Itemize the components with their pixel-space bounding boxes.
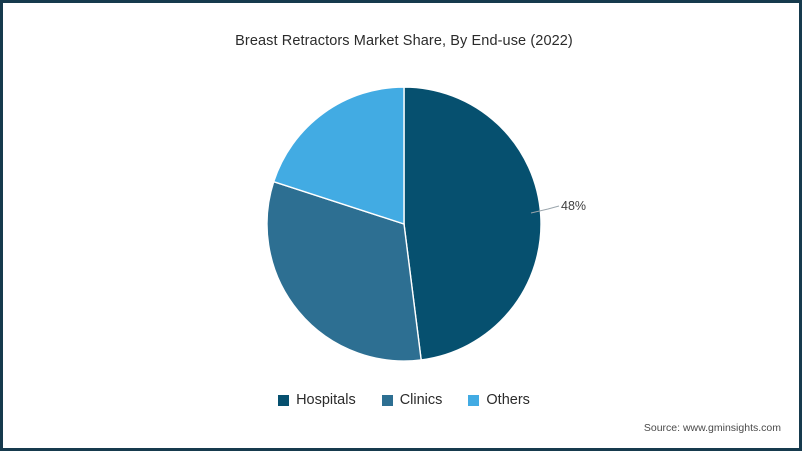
pie-slice-group [267,87,541,361]
pie-chart-svg [3,3,802,451]
legend-label-others: Others [486,393,530,408]
pie-chart: 48% [3,3,802,451]
legend-item-others[interactable]: Others [468,393,530,408]
legend-swatch-others [468,395,479,406]
legend-label-clinics: Clinics [400,393,443,408]
data-label-hospitals: 48% [561,199,586,213]
legend-item-clinics[interactable]: Clinics [382,393,443,408]
source-note: Source: www.gminsights.com [644,422,781,434]
legend-label-hospitals: Hospitals [296,393,356,408]
chart-legend: Hospitals Clinics Others [3,393,802,408]
legend-swatch-hospitals [278,395,289,406]
legend-swatch-clinics [382,395,393,406]
chart-figure: Breast Retractors Market Share, By End-u… [0,0,802,451]
pie-slice-hospitals[interactable] [404,87,541,360]
legend-item-hospitals[interactable]: Hospitals [278,393,356,408]
